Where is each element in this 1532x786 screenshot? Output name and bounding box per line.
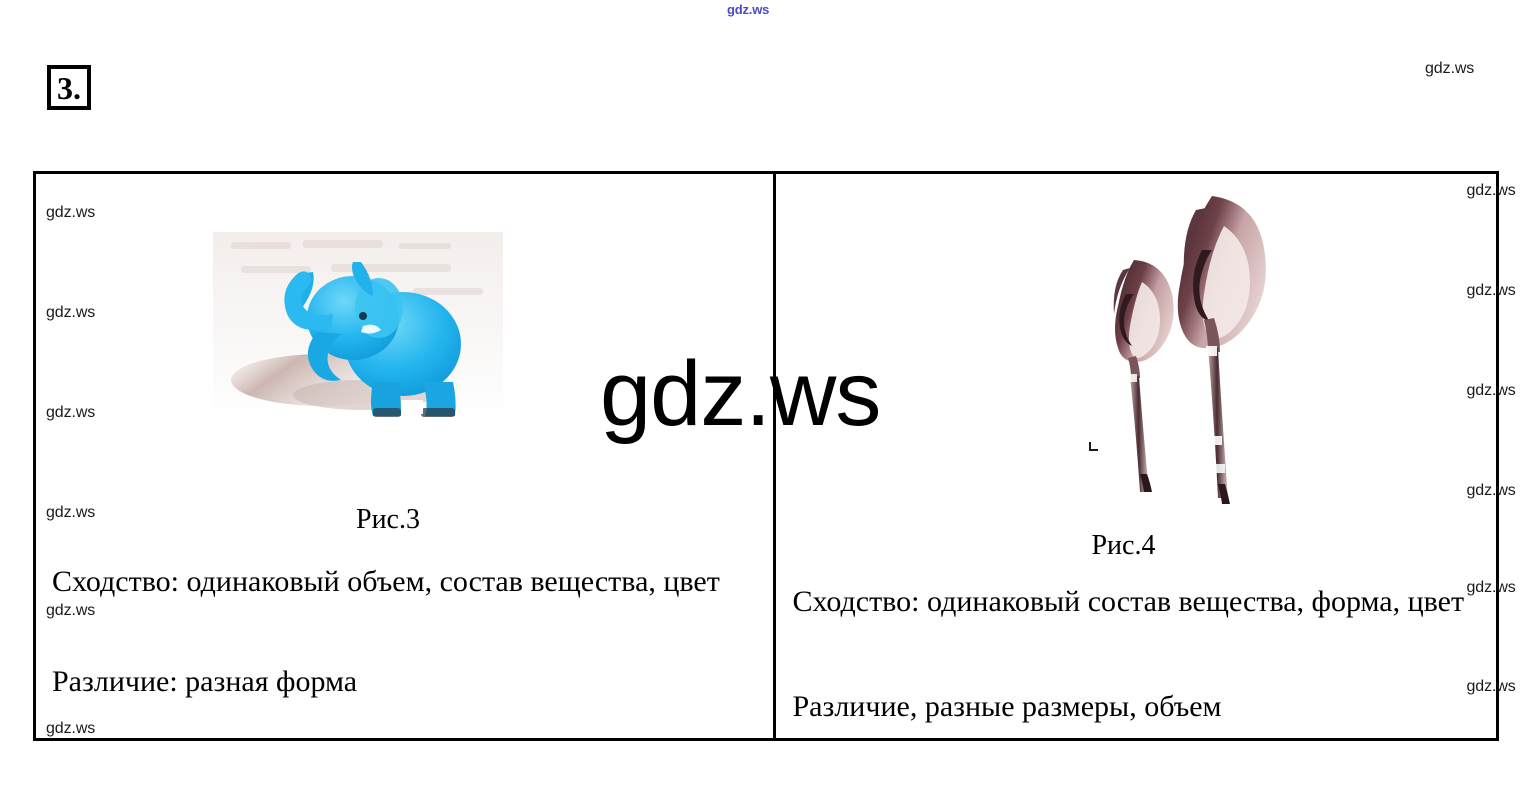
exercise-number-box: 3. (47, 65, 91, 110)
right-similarity-text: Сходство: одинаковый состав вещества, фо… (792, 579, 1482, 625)
figure-spoons (1056, 178, 1326, 508)
exercise-number-label: 3. (57, 72, 81, 104)
watermark-right-3: gdz.ws (1466, 382, 1515, 400)
figure-caption-3: Рис.3 (356, 504, 420, 536)
watermark-right-2: gdz.ws (1466, 282, 1515, 300)
figure-elephant (213, 232, 503, 422)
elephant-icon (213, 232, 503, 422)
figure-caption-4: Рис.4 (1091, 530, 1155, 562)
left-similarity-text: Сходство: одинаковый объем, состав вещес… (52, 559, 752, 605)
watermark-left-3: gdz.ws (46, 404, 95, 422)
left-difference-text: Различие: разная форма (52, 659, 752, 705)
watermark-left-4: gdz.ws (46, 504, 95, 522)
watermark-right-1: gdz.ws (1466, 182, 1515, 200)
watermark-left-6: gdz.ws (46, 720, 95, 738)
table-cell-left: gdz.ws gdz.ws gdz.ws gdz.ws gdz.ws gdz.w… (36, 174, 776, 738)
spoons-icon (1056, 178, 1326, 508)
right-difference-text: Различие, разные размеры, объем (792, 684, 1482, 730)
comparison-table: gdz.ws gdz.ws gdz.ws gdz.ws gdz.ws gdz.w… (33, 171, 1499, 741)
watermark-left-1: gdz.ws (46, 204, 95, 222)
table-cell-right: gdz.ws gdz.ws gdz.ws gdz.ws gdz.ws gdz.w… (776, 174, 1496, 738)
watermark-top: gdz.ws (727, 2, 769, 17)
watermark-left-5: gdz.ws (46, 602, 95, 620)
watermark-right-4: gdz.ws (1466, 482, 1515, 500)
watermark-left-2: gdz.ws (46, 304, 95, 322)
watermark-center-large: gdz.ws (600, 348, 880, 440)
watermark-page-top-right: gdz.ws (1425, 60, 1474, 78)
